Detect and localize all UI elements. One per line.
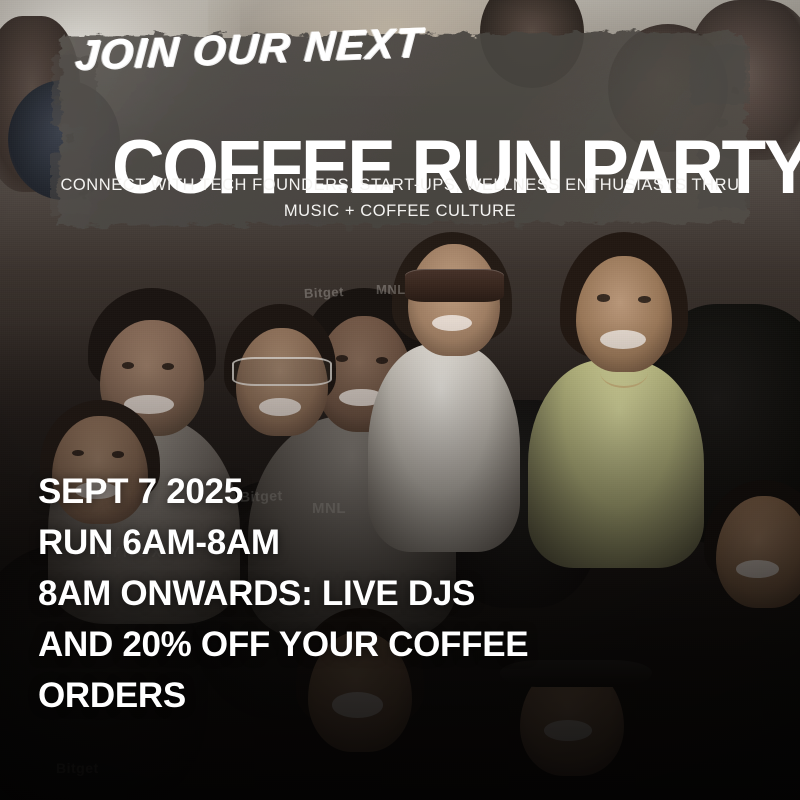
poster-subtitle: CONNECT WITH TECH FOUNDERS, START-UPS, W…	[60, 172, 740, 224]
poster-text-layer: JOIN OUR NEXT COFFEE RUN PARTY. CONNECT …	[0, 0, 800, 800]
event-detail-discount: AND 20% OFF YOUR COFFEE	[38, 619, 658, 670]
event-detail-orders: ORDERS	[38, 670, 658, 721]
event-detail-run-time: RUN 6AM-8AM	[38, 517, 658, 568]
poster-eyebrow: JOIN OUR NEXT	[74, 21, 424, 76]
event-details-block: SEPT 7 2025 RUN 6AM-8AM 8AM ONWARDS: LIV…	[38, 466, 658, 721]
coffee-run-party-poster: Bitget MNL Bitget MNL Bitget HYROX	[0, 0, 800, 800]
event-detail-date: SEPT 7 2025	[38, 466, 658, 517]
event-detail-djs: 8AM ONWARDS: LIVE DJS	[38, 568, 658, 619]
